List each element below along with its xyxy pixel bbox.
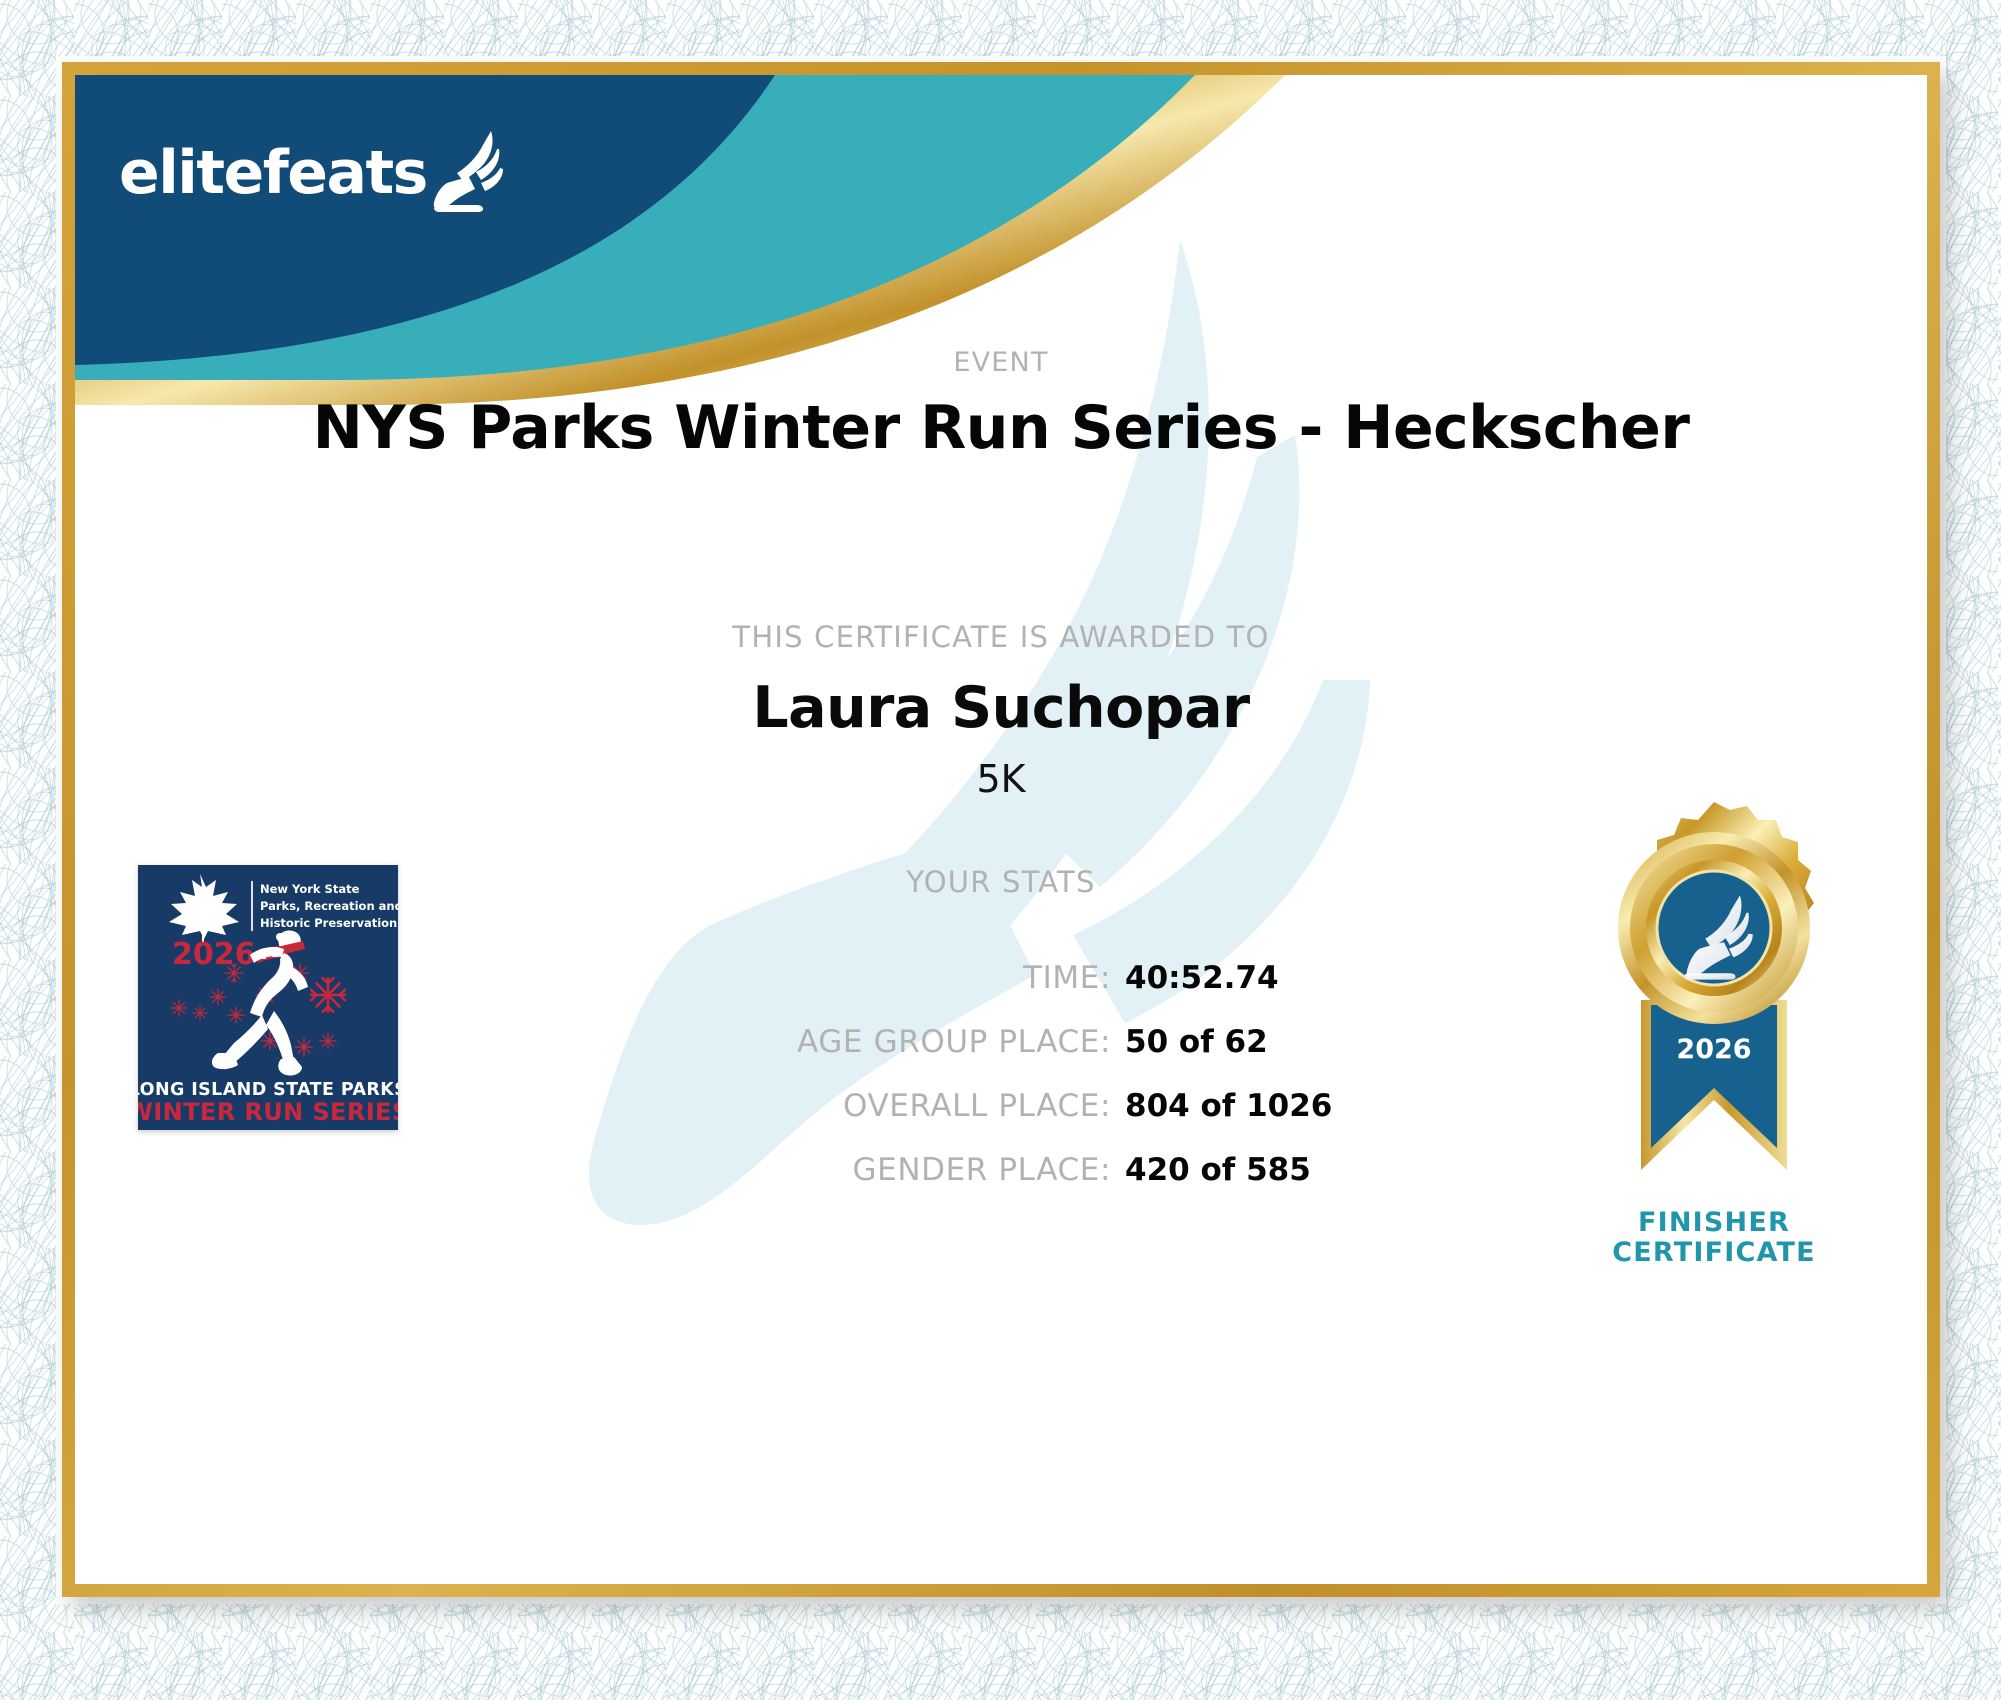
stat-key-overall-place: OVERALL PLACE: bbox=[591, 1088, 1111, 1124]
table-row: OVERALL PLACE: 804 of 1026 bbox=[591, 1088, 1411, 1124]
agency-line-1: New York State bbox=[260, 882, 360, 896]
gold-rosette-icon: 2026 bbox=[1569, 800, 1859, 1200]
athlete-name: Laura Suchopar bbox=[75, 675, 1927, 741]
stat-value-time: 40:52.74 bbox=[1111, 960, 1411, 996]
medal-rosette bbox=[1618, 802, 1814, 1024]
table-row: AGE GROUP PLACE: 50 of 62 bbox=[591, 1024, 1411, 1060]
table-row: TIME: 40:52.74 bbox=[591, 960, 1411, 996]
agency-line-2: Parks, Recreation and bbox=[260, 899, 398, 913]
finisher-medal: 2026 bbox=[1569, 800, 1859, 1260]
stat-value-overall-place: 804 of 1026 bbox=[1111, 1088, 1411, 1124]
medal-caption-line-1: FINISHER bbox=[1569, 1208, 1859, 1238]
event-title: NYS Parks Winter Run Series - Heckscher bbox=[75, 393, 1927, 463]
stat-value-age-group-place: 50 of 62 bbox=[1111, 1024, 1411, 1060]
stat-key-age-group-place: AGE GROUP PLACE: bbox=[591, 1024, 1111, 1060]
table-row: GENDER PLACE: 420 of 585 bbox=[591, 1152, 1411, 1188]
race-logo-year: 2026 bbox=[172, 937, 256, 972]
elitefeats-logo: elitefeats bbox=[119, 127, 507, 203]
stat-key-time: TIME: bbox=[591, 960, 1111, 996]
stat-value-gender-place: 420 of 585 bbox=[1111, 1152, 1411, 1188]
medal-caption-line-2: CERTIFICATE bbox=[1569, 1238, 1859, 1268]
series-line-1: LONG ISLAND STATE PARKS bbox=[138, 1080, 398, 1100]
certificate-gold-frame: elitefeats bbox=[62, 62, 1940, 1597]
race-distance: 5K bbox=[75, 757, 1927, 801]
awarded-to-label: THIS CERTIFICATE IS AWARDED TO bbox=[75, 620, 1927, 654]
agency-line-3: Historic Preservation bbox=[260, 916, 397, 930]
certificate-page: elitefeats bbox=[0, 0, 2001, 1700]
winged-foot-icon bbox=[431, 127, 507, 217]
medal-ribbon: 2026 bbox=[1641, 1000, 1787, 1170]
elitefeats-wordmark: elitefeats bbox=[119, 143, 427, 203]
medal-ribbon-year: 2026 bbox=[1676, 1034, 1751, 1065]
certificate-body: elitefeats bbox=[75, 75, 1927, 1584]
race-series-logo: New York State Parks, Recreation and His… bbox=[138, 865, 398, 1130]
medal-caption: FINISHER CERTIFICATE bbox=[1569, 1208, 1859, 1268]
certificate-content: EVENT NYS Parks Winter Run Series - Heck… bbox=[75, 75, 1927, 1584]
stat-key-gender-place: GENDER PLACE: bbox=[591, 1152, 1111, 1188]
event-label: EVENT bbox=[75, 347, 1927, 378]
series-line-2: WINTER RUN SERIES bbox=[138, 1098, 398, 1126]
